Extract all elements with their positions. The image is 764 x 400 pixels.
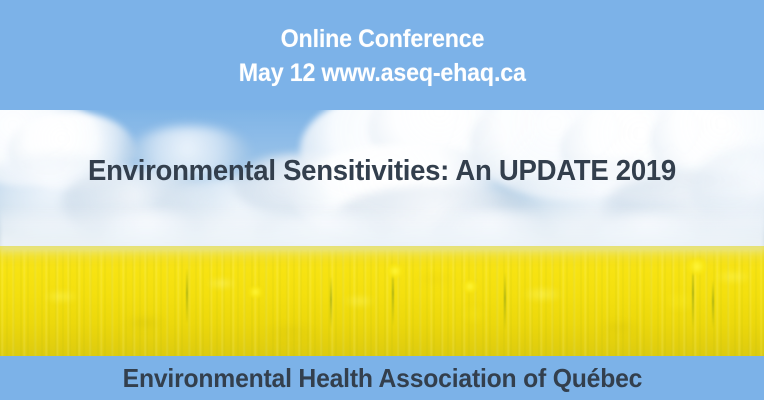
field-stalk-texture (0, 250, 764, 356)
canola-field-layer (0, 246, 764, 356)
conference-banner: Online Conference May 12 www.aseq-ehaq.c… (0, 0, 764, 400)
top-banner-band: Online Conference May 12 www.aseq-ehaq.c… (0, 0, 764, 110)
conference-type-label: Online Conference (280, 23, 484, 56)
page-title: Environmental Sensitivities: An UPDATE 2… (19, 152, 745, 190)
field-bloom (462, 280, 478, 293)
conference-date-website-label: May 12 www.aseq-ehaq.ca (239, 57, 526, 90)
bottom-banner-band: Environmental Health Association of Québ… (0, 356, 764, 400)
field-bloom (248, 286, 263, 298)
field-stem (186, 268, 188, 324)
canola-field-photo (0, 110, 764, 356)
field-stem (504, 272, 506, 330)
field-stem (712, 280, 714, 328)
field-horizon-feather (0, 246, 764, 262)
organization-name-label: Environmental Health Association of Québ… (122, 362, 642, 394)
field-bloom (686, 258, 708, 275)
field-bloom (386, 264, 404, 278)
field-stem (330, 276, 332, 328)
